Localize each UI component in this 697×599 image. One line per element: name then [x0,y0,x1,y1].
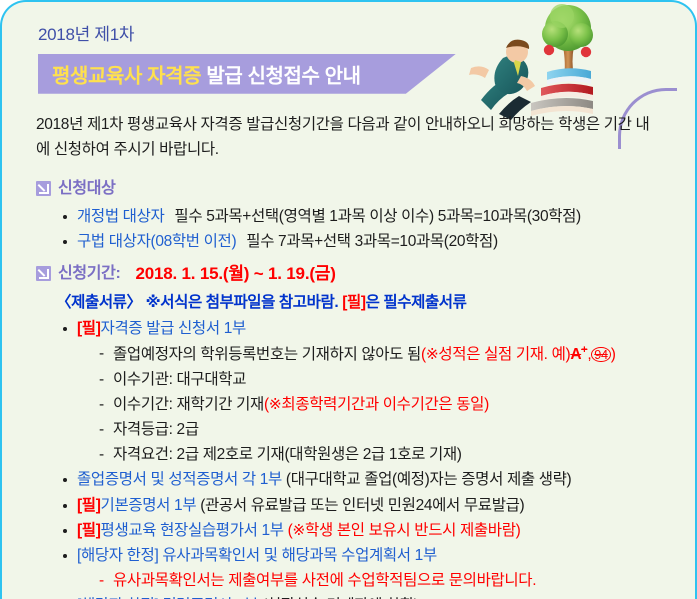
list-item: [해당자 한정] 경력증명서 1부 (현장실습 면제자에 한함) [62,593,673,599]
header: 2018년 제1차 평생교육사 자격증 발급 신청접수 안내 [2,2,695,94]
document-subitems: 유사과목확인서는 제출여부를 사전에 수업학적팀으로 문의바랍니다. [77,568,673,593]
document-label: 졸업증명서 및 성적증명서 각 1부 [77,471,282,488]
announcement-page: 2018년 제1차 평생교육사 자격증 발급 신청접수 안내 2018년 제1차… [0,0,697,599]
list-item: [필]자격증 발급 신청서 1부 졸업예정자의 학위등록번호는 기재하지 않아도… [62,316,673,468]
required-tag: [필] [342,294,365,311]
subitem-text: 자격요건: 2급 제2호로 기재(대학원생은 2급 1호로 기재) [113,446,462,463]
note-suffix: ) [611,346,616,363]
title-ribbon: 평생교육사 자격증 발급 신청접수 안내 [38,54,456,94]
score-circled: 94 [591,347,610,362]
documents-heading: 〈제출서류〉 ※서식은 첨부파일을 참고바람. [필]은 필수제출서류 [56,290,673,315]
subitem-note-prefix: (※성적은 실점 기재. 예) [421,346,570,363]
list-item: 졸업예정자의 학위등록번호는 기재하지 않아도 됨(※성적은 실점 기재. 예)… [99,341,673,367]
list-item: 개정법 대상자필수 5과목+선택(영역별 1과목 이상 이수) 5과목=10과목… [62,204,673,229]
target-label: 개정법 대상자 [77,208,164,225]
document-note: (※학생 본인 보유시 반드시 제출바람) [284,522,521,539]
list-item: 이수기간: 재학기간 기재(※최종학력기간과 이수기간은 동일) [99,392,673,417]
required-tag: [필] [77,320,101,337]
list-item: [해당자 한정] 유사과목확인서 및 해당과목 수업계획서 1부 유사과목확인서… [62,543,673,593]
page-title-highlight: 평생교육사 자격증 [52,65,201,87]
arrow-down-right-icon [36,266,51,281]
document-suffix: (대구대학교 졸업(예정)자는 증명서 제출 생략) [282,471,571,488]
arrow-down-right-icon [36,181,51,196]
subitem-text: 자격등급: 2급 [113,421,199,438]
subitem-text: 유사과목확인서는 제출여부를 사전에 수업학적팀으로 문의바랍니다. [113,572,536,589]
document-label: 평생교육 현장실습평가서 1부 [101,522,284,539]
page-title-rest: 발급 신청접수 안내 [201,65,360,87]
intro-paragraph: 2018년 제1차 평생교육사 자격증 발급신청기간을 다음과 같이 안내하오니… [36,112,661,162]
list-item: [필]평생교육 현장실습평가서 1부 (※학생 본인 보유시 반드시 제출바람) [62,518,673,543]
list-item: 구법 대상자(08학번 이전)필수 7과목+선택 3과목=10과목(20학점) [62,229,673,254]
list-item: [필]기본증명서 1부 (관공서 유료발급 또는 인터넷 민원24에서 무료발급… [62,493,673,518]
documents-note: ※서식은 첨부파일을 참고바람. [146,294,339,311]
application-period-value: 2018. 1. 15.(월) ~ 1. 19.(금) [135,260,335,288]
subitem-note: (※최종학력기간과 이수기간은 동일) [264,396,489,413]
documents-bracket: 〈제출서류〉 [56,294,142,311]
target-list: 개정법 대상자필수 5과목+선택(영역별 1과목 이상 이수) 5과목=10과목… [36,204,673,254]
document-label: 자격증 발급 신청서 1부 [101,320,246,337]
document-subitems: 졸업예정자의 학위등록번호는 기재하지 않아도 됨(※성적은 실점 기재. 예)… [77,341,673,468]
grade-letter: A [570,346,581,363]
section-target-title: 신청대상 [58,176,115,202]
required-tag: [필] [77,497,101,514]
subitem-text: 이수기간: 재학기간 기재 [113,396,264,413]
required-note: 은 필수제출서류 [366,294,467,311]
kicker-text: 2018년 제1차 [38,26,695,45]
content: 2018년 제1차 평생교육사 자격증 발급신청기간을 다음과 같이 안내하오니… [2,94,695,599]
section-period-title: 신청기간: [58,261,120,287]
document-label: [해당자 한정] 유사과목확인서 및 해당과목 수업계획서 1부 [77,547,437,564]
subitem-text: 이수기관: 대구대학교 [113,371,246,388]
section-period: 신청기간: 2018. 1. 15.(월) ~ 1. 19.(금) 〈제출서류〉… [36,260,673,599]
list-item: 졸업증명서 및 성적증명서 각 1부 (대구대학교 졸업(예정)자는 증명서 제… [62,467,673,492]
target-label: 구법 대상자(08학번 이전) [77,233,236,250]
list-item: 이수기관: 대구대학교 [99,367,673,392]
section-period-heading: 신청기간: 2018. 1. 15.(월) ~ 1. 19.(금) [36,260,673,288]
list-item: 유사과목확인서는 제출여부를 사전에 수업학적팀으로 문의바랍니다. [99,568,673,593]
document-suffix: (관공서 유료발급 또는 인터넷 민원24에서 무료발급) [196,497,524,514]
documents-list: [필]자격증 발급 신청서 1부 졸업예정자의 학위등록번호는 기재하지 않아도… [36,316,673,599]
page-title: 평생교육사 자격증 발급 신청접수 안내 [52,59,361,88]
list-item: 자격등급: 2급 [99,417,673,442]
section-target-heading: 신청대상 [36,176,673,202]
required-tag: [필] [77,522,101,539]
target-detail: 필수 5과목+선택(영역별 1과목 이상 이수) 5과목=10과목(30학점) [174,208,580,225]
target-detail: 필수 7과목+선택 3과목=10과목(20학점) [246,233,497,250]
subitem-text: 졸업예정자의 학위등록번호는 기재하지 않아도 됨 [113,346,421,363]
document-label: 기본증명서 1부 [101,497,197,514]
section-target: 신청대상 개정법 대상자필수 5과목+선택(영역별 1과목 이상 이수) 5과목… [36,176,673,254]
list-item: 자격요건: 2급 제2호로 기재(대학원생은 2급 1호로 기재) [99,442,673,467]
